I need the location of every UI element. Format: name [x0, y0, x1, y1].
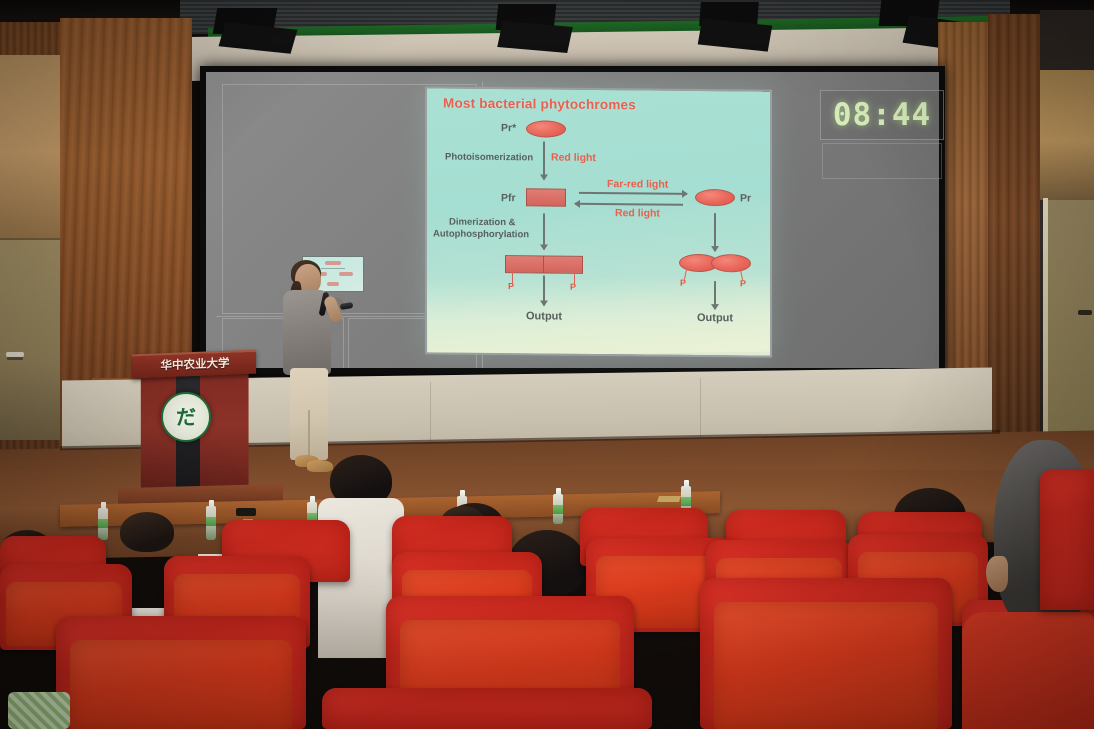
seat-pad-r1-c3	[714, 602, 938, 729]
slide-label-p-left-1: P	[508, 281, 514, 291]
arrow-photoisomerization	[543, 141, 545, 179]
left-wall-upper-tan-panel	[0, 55, 62, 250]
preview-slide-blob-4	[327, 282, 339, 286]
bottle-label-2	[206, 517, 216, 526]
slide-label-output-right: Output	[697, 312, 733, 324]
arrow-far-red-light	[579, 192, 687, 195]
slide-label-autophosphorylation: Autophosphorylation	[433, 228, 529, 240]
presentation-slide: Most bacterial phytochromes Pr* Photoiso…	[425, 86, 772, 357]
left-door-handle[interactable]	[6, 352, 24, 357]
slide-label-red-light-2: Red light	[615, 207, 660, 219]
clock-time-text: 08:44	[833, 97, 931, 133]
slide-label-pr: Pr	[740, 192, 751, 204]
arrow-red-light-reverse	[575, 203, 683, 206]
right-door[interactable]	[1048, 200, 1094, 450]
desk-item-3	[657, 496, 681, 502]
bottle-label-4	[553, 505, 563, 514]
emblem-glyph: だ	[176, 407, 196, 427]
speaker-leg-separation	[308, 410, 310, 460]
bottle-label-1	[98, 519, 108, 528]
protein-ellipse-pr-star	[526, 120, 566, 137]
water-bottle-2[interactable]	[206, 506, 216, 540]
right-wall-upper-tan-panel	[1040, 70, 1094, 200]
preview-slide-connector	[321, 268, 345, 269]
arrow-output-right	[714, 281, 716, 309]
audience-head-back-1	[120, 512, 174, 552]
desk-microphone-base	[236, 508, 256, 516]
seat-right-edge-partial[interactable]	[1040, 470, 1094, 610]
bag-on-seat	[8, 692, 70, 729]
slide-label-red-light-1: Red light	[551, 152, 596, 164]
slide-title: Most bacterial phytochromes	[443, 96, 636, 113]
slide-label-pfr: Pfr	[501, 192, 516, 204]
protein-dimer-ellipse-right	[711, 254, 751, 272]
lecture-hall-photo: Most bacterial phytochromes Pr* Photoiso…	[0, 0, 1094, 729]
protein-dimer-rect-right	[543, 255, 583, 273]
slide-label-p-left-2: P	[570, 282, 576, 292]
slide-label-photoisomerization: Photoisomerization	[445, 152, 533, 164]
bottle-label-5	[681, 497, 691, 506]
slide-label-pr-star: Pr*	[501, 122, 516, 134]
protein-rect-pfr	[526, 188, 566, 206]
preview-slide-blob-1	[325, 261, 341, 265]
seat-pad-r1-c1	[70, 640, 292, 729]
left-door[interactable]	[0, 238, 60, 440]
arrow-dimerization-right	[714, 213, 716, 251]
water-bottle-1[interactable]	[98, 508, 108, 540]
university-emblem: だ	[161, 392, 211, 442]
preview-slide-blob-3	[339, 272, 353, 276]
right-door-handle[interactable]	[1078, 310, 1092, 315]
slide-label-p-right-1: P	[680, 278, 686, 288]
right-wall-wood-column-outer	[988, 14, 1048, 466]
audience-body-foreground-right	[962, 612, 1094, 729]
protein-ellipse-pr	[695, 189, 735, 206]
digital-clock: 08:44	[820, 90, 944, 140]
water-bottle-4[interactable]	[553, 494, 563, 524]
slide-label-dimerization: Dimerization &	[449, 217, 516, 229]
clock-panel-below	[822, 143, 942, 179]
slide-label-far-red-light: Far-red light	[607, 178, 668, 191]
seat-r0-center[interactable]	[322, 688, 652, 729]
slide-label-p-right-2: P	[740, 278, 746, 288]
slide-label-output-left: Output	[526, 310, 562, 322]
protein-dimer-rect-left	[505, 255, 545, 273]
arrow-dimerization-left	[543, 213, 545, 249]
arrow-output-left	[543, 275, 545, 305]
audience-ear-foreground-right	[986, 556, 1008, 592]
speaker-shoe-right	[307, 460, 333, 472]
